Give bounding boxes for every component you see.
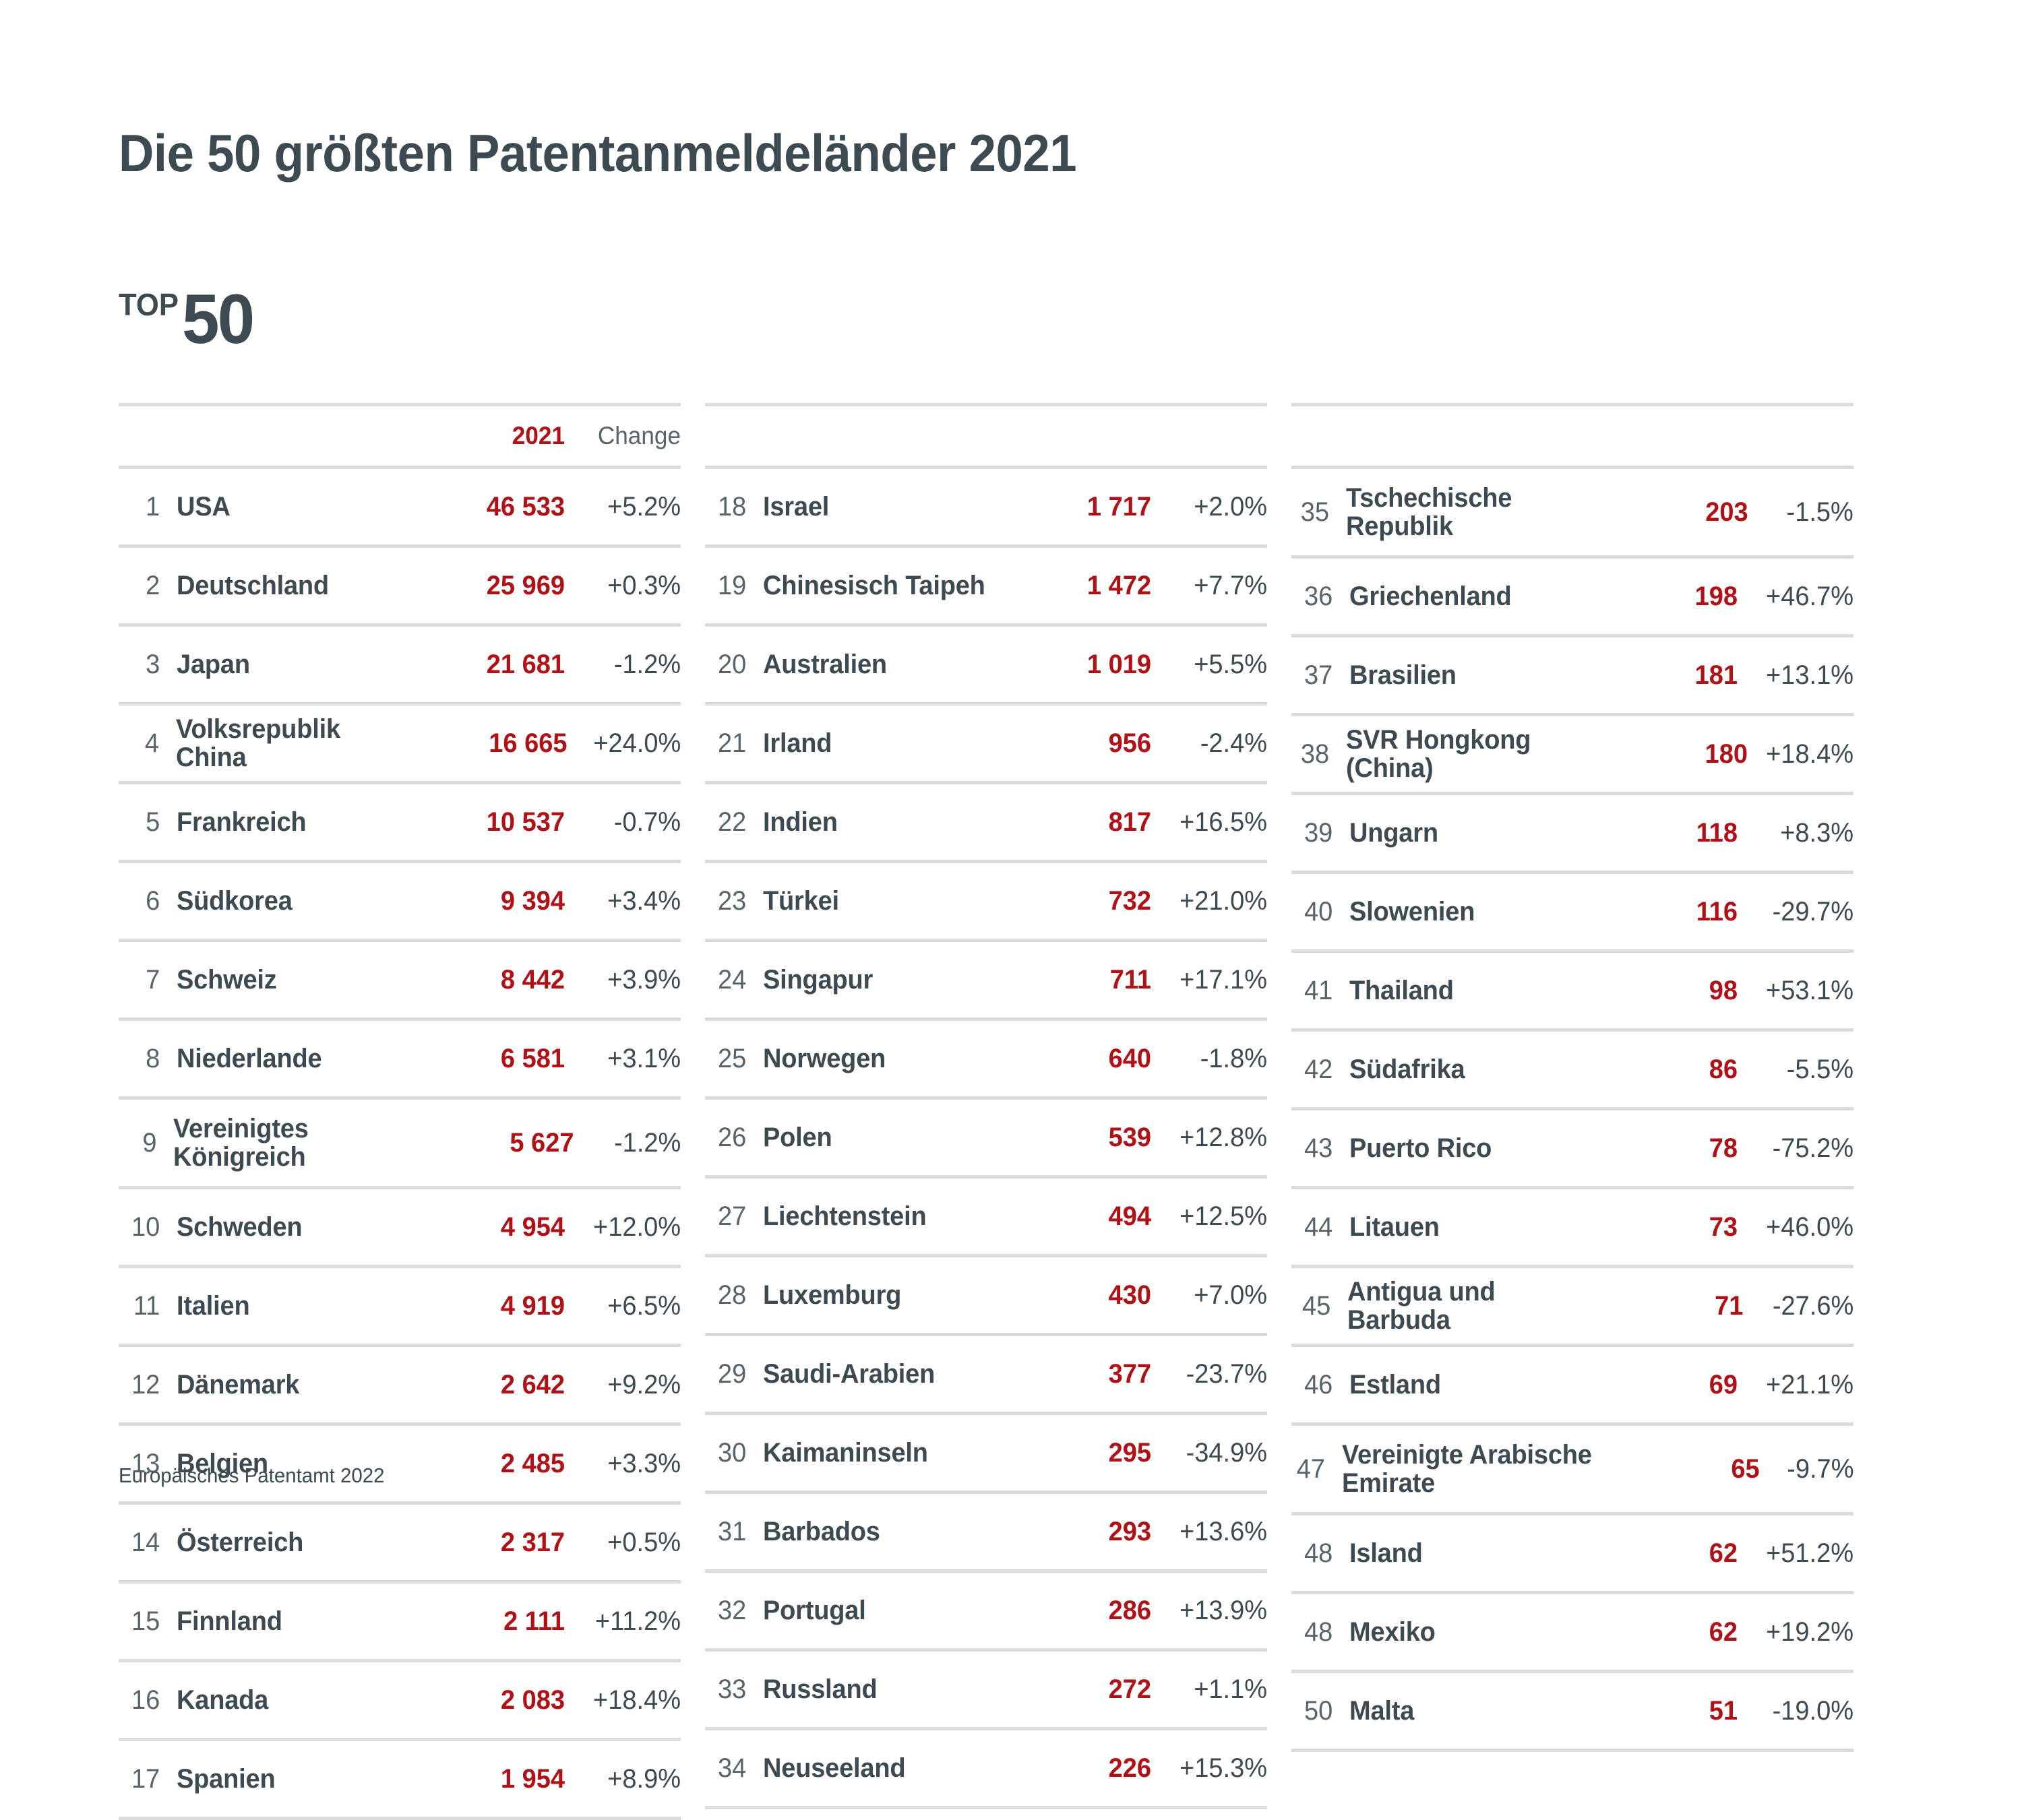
row-change: -1.5%: [1753, 497, 1854, 528]
row-change: +3.1%: [571, 1044, 681, 1074]
table-row[interactable]: 48Mexiko62+19.2%: [1291, 1594, 1854, 1670]
ranking-columns: 2021Change1USA46 533+5.2%2Deutschland25 …: [119, 403, 1938, 1820]
row-change: +24.0%: [573, 728, 681, 759]
row-rank: 35: [1294, 497, 1346, 528]
row-rank: 26: [708, 1123, 763, 1153]
row-change: +2.0%: [1157, 492, 1267, 522]
top50-badge-number: 50: [182, 290, 253, 350]
row-value: 4 919: [431, 1291, 565, 1321]
row-change: +19.2%: [1744, 1617, 1854, 1648]
row-country: Österreich: [177, 1528, 412, 1557]
row-change: +5.5%: [1157, 650, 1267, 680]
row-change: +51.2%: [1744, 1538, 1854, 1569]
row-country: Südkorea: [177, 887, 412, 915]
row-change: +46.0%: [1744, 1212, 1854, 1243]
row-country: Brasilien: [1349, 661, 1585, 689]
row-value: 10 537: [431, 807, 565, 838]
row-rank: 28: [708, 1280, 763, 1311]
table-row[interactable]: 42Südafrika86-5.5%: [1291, 1032, 1854, 1107]
row-country: SVR Hongkong (China): [1346, 726, 1606, 783]
row-country: Luxemburg: [763, 1281, 999, 1309]
row-country: Slowenien: [1349, 898, 1585, 926]
row-value: 118: [1604, 818, 1738, 848]
row-rank: 31: [708, 1517, 763, 1547]
table-header-row: 2021Change: [119, 406, 681, 466]
row-change: +12.5%: [1157, 1201, 1267, 1232]
row-value: 86: [1604, 1055, 1738, 1085]
table-row[interactable]: 35Tschechische Republik203-1.5%: [1291, 469, 1854, 555]
row-change: +18.4%: [571, 1685, 681, 1716]
row-country: Singapur: [763, 966, 999, 994]
row-value: 198: [1604, 582, 1738, 612]
row-value: 732: [1018, 886, 1151, 916]
row-rank: 39: [1294, 818, 1349, 848]
table-row[interactable]: 33Russland272+1.1%: [705, 1652, 1267, 1727]
ranking-column-2: 18Israel1 717+2.0%19Chinesisch Taipeh1 4…: [705, 403, 1267, 1820]
row-change: +5.2%: [571, 492, 681, 522]
table-row[interactable]: 22Indien817+16.5%: [705, 784, 1267, 860]
row-change: -27.6%: [1749, 1291, 1854, 1321]
row-rank: 32: [708, 1596, 763, 1626]
row-rank: 48: [1294, 1617, 1349, 1648]
row-country: Südafrika: [1349, 1055, 1585, 1084]
row-country: Japan: [177, 650, 412, 679]
row-country: Vereinigte Arabische Emirate: [1342, 1441, 1631, 1498]
row-change: +8.3%: [1744, 818, 1854, 848]
row-change: +13.1%: [1744, 660, 1854, 691]
row-value: 78: [1604, 1133, 1738, 1164]
row-country: Frankreich: [177, 808, 412, 836]
row-value: 293: [1018, 1517, 1151, 1547]
row-change: +12.0%: [571, 1212, 681, 1243]
row-rank: 8: [121, 1044, 177, 1074]
row-country: Irland: [763, 729, 999, 757]
table-header-row: [705, 406, 1267, 466]
row-country: USA: [177, 493, 412, 521]
row-value: 2 642: [431, 1370, 565, 1400]
row-value: 2 111: [431, 1606, 565, 1637]
row-country: Puerto Rico: [1349, 1134, 1585, 1162]
row-change: +11.2%: [571, 1606, 681, 1637]
table-row[interactable]: 7Schweiz8 442+3.9%: [119, 942, 681, 1017]
row-value: 430: [1018, 1280, 1151, 1311]
row-change: +46.7%: [1744, 582, 1854, 612]
table-row[interactable]: 18Israel1 717+2.0%: [705, 469, 1267, 544]
row-country: Volksrepublik China: [176, 715, 418, 772]
row-rank: 23: [708, 886, 763, 916]
row-rank: 45: [1294, 1291, 1347, 1321]
row-value: 377: [1018, 1359, 1151, 1389]
table-row[interactable]: 21Irland956-2.4%: [705, 705, 1267, 781]
row-country: Norwegen: [763, 1044, 999, 1073]
row-country: Portugal: [763, 1596, 999, 1625]
row-country: Israel: [763, 493, 999, 521]
table-row[interactable]: 41Thailand98+53.1%: [1291, 953, 1854, 1028]
row-rank: 47: [1294, 1454, 1342, 1484]
row-rank: 25: [708, 1044, 763, 1074]
row-country: Dänemark: [177, 1371, 412, 1399]
row-country: Spanien: [177, 1765, 412, 1793]
row-change: -5.5%: [1744, 1055, 1854, 1085]
row-rank: 38: [1294, 739, 1346, 770]
row-rank: 18: [708, 492, 763, 522]
table-row[interactable]: 20Australien1 019+5.5%: [705, 627, 1267, 702]
row-value: 116: [1604, 897, 1738, 927]
row-country: Schweden: [177, 1213, 412, 1241]
row-rank: 2: [121, 571, 177, 601]
table-row[interactable]: 40Slowenien116-29.7%: [1291, 874, 1854, 949]
row-rank: 14: [121, 1528, 177, 1558]
row-change: -34.9%: [1157, 1438, 1267, 1468]
row-country: Chinesisch Taipeh: [763, 571, 999, 600]
row-change: +3.4%: [571, 886, 681, 916]
row-rank: 41: [1294, 976, 1349, 1006]
row-value: 69: [1604, 1370, 1738, 1400]
row-country: Neuseeland: [763, 1754, 999, 1782]
row-country: Vereinigtes Königreich: [173, 1115, 431, 1172]
row-rank: 50: [1294, 1696, 1349, 1726]
row-change: +6.5%: [571, 1291, 681, 1321]
row-value: 711: [1018, 965, 1151, 995]
table-row[interactable]: 24Singapur711+17.1%: [705, 942, 1267, 1017]
row-change: +3.3%: [571, 1449, 681, 1479]
row-rank: 43: [1294, 1133, 1349, 1164]
top50-badge: TOP 50: [119, 290, 255, 350]
row-value: 46 533: [431, 492, 565, 522]
table-rule: [705, 1806, 1267, 1809]
row-country: Barbados: [763, 1517, 999, 1546]
row-value: 2 083: [431, 1685, 565, 1716]
row-country: Litauen: [1349, 1213, 1585, 1241]
row-country: Saudi-Arabien: [763, 1360, 999, 1388]
table-rule: [119, 1817, 681, 1820]
row-value: 956: [1018, 728, 1151, 759]
row-change: +13.9%: [1157, 1596, 1267, 1626]
row-country: Ungarn: [1349, 819, 1585, 847]
row-rank: 20: [708, 650, 763, 680]
table-row[interactable]: 31Barbados293+13.6%: [705, 1494, 1267, 1569]
table-row[interactable]: 34Neuseeland226+15.3%: [705, 1730, 1267, 1806]
row-country: Schweiz: [177, 966, 412, 994]
row-country: Italien: [177, 1292, 412, 1320]
row-country: Island: [1349, 1539, 1585, 1567]
table-row[interactable]: 2Deutschland25 969+0.3%: [119, 548, 681, 623]
row-value: 73: [1604, 1212, 1738, 1243]
row-country: Australien: [763, 650, 999, 679]
row-change: +7.0%: [1157, 1280, 1267, 1311]
row-value: 640: [1018, 1044, 1151, 1074]
table-row[interactable]: 36Griechenland198+46.7%: [1291, 559, 1854, 634]
row-country: Kaimaninseln: [763, 1439, 999, 1467]
table-row[interactable]: 17Spanien1 954+8.9%: [119, 1741, 681, 1817]
row-value: 180: [1626, 739, 1747, 770]
row-change: +3.9%: [571, 965, 681, 995]
table-row[interactable]: 44Litauen73+46.0%: [1291, 1189, 1854, 1265]
row-country: Malta: [1349, 1697, 1585, 1725]
row-value: 295: [1018, 1438, 1151, 1468]
row-value: 181: [1604, 660, 1738, 691]
row-rank: 3: [121, 650, 177, 680]
row-value: 1 472: [1018, 571, 1151, 601]
row-country: Liechtenstein: [763, 1202, 999, 1230]
table-row[interactable]: 4Volksrepublik China16 665+24.0%: [119, 705, 681, 781]
row-value: 6 581: [431, 1044, 565, 1074]
row-rank: 7: [121, 965, 177, 995]
row-rank: 40: [1294, 897, 1349, 927]
row-value: 8 442: [431, 965, 565, 995]
row-country: Thailand: [1349, 976, 1585, 1005]
row-value: 21 681: [431, 650, 565, 680]
table-row[interactable]: 23Türkei732+21.0%: [705, 863, 1267, 939]
row-value: 25 969: [431, 571, 565, 601]
row-change: +16.5%: [1157, 807, 1267, 838]
row-value: 1 019: [1018, 650, 1151, 680]
row-change: +8.9%: [571, 1764, 681, 1794]
row-change: +18.4%: [1753, 739, 1854, 770]
row-value: 2 485: [431, 1449, 565, 1479]
ranking-column-3: 35Tschechische Republik203-1.5%36Grieche…: [1291, 403, 1854, 1820]
table-row[interactable]: 50Malta51-19.0%: [1291, 1673, 1854, 1749]
table-row[interactable]: 8Niederlande6 581+3.1%: [119, 1021, 681, 1096]
table-row[interactable]: 3Japan21 681-1.2%: [119, 627, 681, 702]
row-value: 1 954: [431, 1764, 565, 1794]
row-rank: 33: [708, 1674, 763, 1705]
row-change: +0.5%: [571, 1528, 681, 1558]
row-rank: 36: [1294, 582, 1349, 612]
row-rank: 34: [708, 1753, 763, 1784]
row-value: 539: [1018, 1123, 1151, 1153]
table-row[interactable]: 48Island62+51.2%: [1291, 1515, 1854, 1591]
row-change: +9.2%: [571, 1370, 681, 1400]
row-change: -1.2%: [580, 1128, 681, 1158]
row-rank: 48: [1294, 1538, 1349, 1569]
top50-badge-word: TOP: [119, 289, 179, 320]
row-change: -9.7%: [1764, 1454, 1854, 1484]
row-country: Polen: [763, 1123, 999, 1152]
row-rank: 9: [121, 1128, 173, 1158]
row-value: 62: [1604, 1538, 1738, 1569]
row-value: 16 665: [437, 728, 567, 759]
table-row[interactable]: 6Südkorea9 394+3.4%: [119, 863, 681, 939]
row-value: 226: [1018, 1753, 1151, 1784]
table-row[interactable]: 39Ungarn118+8.3%: [1291, 795, 1854, 871]
row-country: Russland: [763, 1675, 999, 1703]
row-value: 62: [1604, 1617, 1738, 1648]
row-country: Türkei: [763, 887, 999, 915]
row-change: -29.7%: [1744, 897, 1854, 927]
row-value: 71: [1617, 1291, 1744, 1321]
row-rank: 27: [708, 1201, 763, 1232]
row-rank: 12: [121, 1370, 177, 1400]
row-country: Antigua und Barbuda: [1347, 1278, 1597, 1335]
row-rank: 11: [121, 1291, 177, 1321]
row-rank: 17: [121, 1764, 177, 1794]
row-change: +13.6%: [1157, 1517, 1267, 1547]
row-rank: 22: [708, 807, 763, 838]
table-row[interactable]: 15Finnland2 111+11.2%: [119, 1583, 681, 1659]
column-header-value: 2021: [431, 422, 565, 450]
row-change: +0.3%: [571, 571, 681, 601]
ranking-column-1: 2021Change1USA46 533+5.2%2Deutschland25 …: [119, 403, 681, 1820]
table-row[interactable]: 16Kanada2 083+18.4%: [119, 1662, 681, 1738]
row-change: +21.1%: [1744, 1370, 1854, 1400]
row-country: Mexiko: [1349, 1618, 1585, 1646]
table-row[interactable]: 37Brasilien181+13.1%: [1291, 637, 1854, 713]
row-rank: 24: [708, 965, 763, 995]
row-country: Tschechische Republik: [1346, 484, 1606, 541]
row-country: Indien: [763, 808, 999, 836]
row-value: 65: [1651, 1454, 1759, 1484]
row-value: 4 954: [431, 1212, 565, 1243]
table-row[interactable]: 47Vereinigte Arabische Emirate65-9.7%: [1291, 1426, 1854, 1512]
table-row[interactable]: 19Chinesisch Taipeh1 472+7.7%: [705, 548, 1267, 623]
row-value: 817: [1018, 807, 1151, 838]
table-row[interactable]: 30Kaimaninseln295-34.9%: [705, 1415, 1267, 1490]
table-header-row: [1291, 406, 1854, 466]
table-row[interactable]: 29Saudi-Arabien377-23.7%: [705, 1336, 1267, 1412]
row-rank: 29: [708, 1359, 763, 1389]
row-value: 494: [1018, 1201, 1151, 1232]
row-change: +53.1%: [1744, 976, 1854, 1006]
page-title: Die 50 größten Patentanmeldeländer 2021: [119, 123, 1076, 184]
row-change: -19.0%: [1744, 1696, 1854, 1726]
source-note: Europäisches Patentamt 2022: [119, 1464, 385, 1488]
row-country: Niederlande: [177, 1044, 412, 1073]
row-rank: 1: [121, 492, 177, 522]
table-row[interactable]: 27Liechtenstein494+12.5%: [705, 1179, 1267, 1254]
row-change: +21.0%: [1157, 886, 1267, 916]
row-value: 203: [1626, 497, 1748, 528]
row-rank: 44: [1294, 1212, 1349, 1243]
row-value: 272: [1018, 1674, 1151, 1705]
row-value: 1 717: [1018, 492, 1151, 522]
row-value: 286: [1018, 1596, 1151, 1626]
row-change: +15.3%: [1157, 1753, 1267, 1784]
row-change: +1.1%: [1157, 1674, 1267, 1705]
row-country: Griechenland: [1349, 582, 1585, 610]
row-change: +17.1%: [1157, 965, 1267, 995]
table-row[interactable]: 25Norwegen640-1.8%: [705, 1021, 1267, 1096]
row-change: -23.7%: [1157, 1359, 1267, 1389]
table-row[interactable]: 12Dänemark2 642+9.2%: [119, 1347, 681, 1422]
infographic-page: Die 50 größten Patentanmeldeländer 2021 …: [0, 0, 2022, 1516]
row-value: 2 317: [431, 1528, 565, 1558]
row-rank: 6: [121, 886, 177, 916]
row-rank: 21: [708, 728, 763, 759]
table-row[interactable]: 45Antigua und Barbuda71-27.6%: [1291, 1268, 1854, 1344]
table-row[interactable]: 1USA46 533+5.2%: [119, 469, 681, 544]
row-rank: 4: [121, 728, 175, 759]
row-change: -1.8%: [1157, 1044, 1267, 1074]
row-change: +7.7%: [1157, 571, 1267, 601]
row-country: Finnland: [177, 1607, 412, 1635]
table-row[interactable]: 11Italien4 919+6.5%: [119, 1268, 681, 1344]
row-rank: 37: [1294, 660, 1349, 691]
row-rank: 19: [708, 571, 763, 601]
row-country: Deutschland: [177, 571, 412, 600]
table-row[interactable]: 28Luxemburg430+7.0%: [705, 1257, 1267, 1333]
table-row[interactable]: 5Frankreich10 537-0.7%: [119, 784, 681, 860]
row-change: -0.7%: [571, 807, 681, 838]
table-row[interactable]: 43Puerto Rico78-75.2%: [1291, 1110, 1854, 1186]
table-row[interactable]: 10Schweden4 954+12.0%: [119, 1189, 681, 1265]
row-rank: 16: [121, 1685, 177, 1716]
table-row[interactable]: 32Portugal286+13.9%: [705, 1573, 1267, 1648]
row-value: 5 627: [452, 1128, 574, 1158]
row-country: Kanada: [177, 1686, 412, 1714]
column-header-change: Change: [571, 422, 681, 450]
row-value: 9 394: [431, 886, 565, 916]
row-change: -1.2%: [571, 650, 681, 680]
row-value: 98: [1604, 976, 1738, 1006]
row-rank: 15: [121, 1606, 177, 1637]
table-row[interactable]: 9Vereinigtes Königreich5 627-1.2%: [119, 1100, 681, 1186]
row-change: -75.2%: [1744, 1133, 1854, 1164]
row-country: Estland: [1349, 1371, 1585, 1399]
table-rule: [1291, 1749, 1854, 1752]
row-rank: 30: [708, 1438, 763, 1468]
row-change: -2.4%: [1157, 728, 1267, 759]
table-row[interactable]: 26Polen539+12.8%: [705, 1100, 1267, 1175]
row-value: 51: [1604, 1696, 1738, 1726]
row-rank: 5: [121, 807, 177, 838]
row-rank: 46: [1294, 1370, 1349, 1400]
row-rank: 10: [121, 1212, 177, 1243]
row-change: +12.8%: [1157, 1123, 1267, 1153]
table-row[interactable]: 38SVR Hongkong (China)180+18.4%: [1291, 716, 1854, 792]
table-row[interactable]: 46Estland69+21.1%: [1291, 1347, 1854, 1422]
row-rank: 42: [1294, 1055, 1349, 1085]
